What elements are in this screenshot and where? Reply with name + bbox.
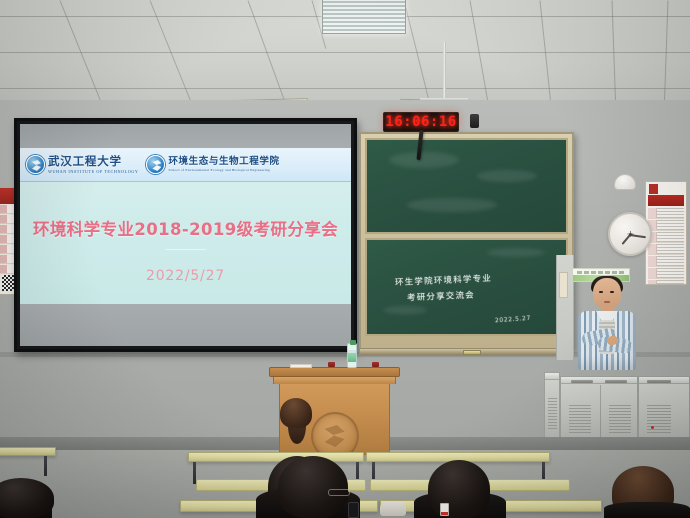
chalk-tray bbox=[359, 348, 574, 356]
screen-letterbox-top bbox=[20, 124, 351, 148]
digital-clock-time: 16:06:16 bbox=[385, 114, 456, 130]
poster-title-bar bbox=[648, 195, 684, 206]
school-name-en: School of Environmental Ecology and Biol… bbox=[168, 168, 279, 172]
university-name-cn: 武汉工程大学 bbox=[48, 155, 138, 167]
poster-logo-icon bbox=[649, 184, 683, 194]
poster-row bbox=[648, 256, 684, 267]
lectern-top bbox=[269, 367, 400, 377]
slide-title: 环境科学专业2018-2019级考研分享会 bbox=[20, 216, 351, 240]
desk-row-back-left bbox=[0, 447, 56, 456]
poster-row bbox=[648, 232, 684, 243]
analog-wall-clock bbox=[608, 212, 652, 256]
marker-icon bbox=[372, 362, 379, 367]
presentation-slide: 武汉工程大学 WUHAN INSTITUTE OF TECHNOLOGY 环境生… bbox=[20, 148, 351, 304]
student-head bbox=[428, 460, 490, 518]
student-head-standing bbox=[280, 398, 312, 428]
school-logo: 环境生态与生物工程学院 School of Environmental Ecol… bbox=[146, 155, 279, 174]
screen-letterbox-bottom bbox=[20, 304, 351, 346]
blackboard-panel-upper bbox=[365, 138, 568, 234]
storage-cabinet-center[interactable] bbox=[560, 376, 638, 438]
fluorescent-panel-icon bbox=[322, 0, 406, 34]
water-bottle-icon bbox=[347, 343, 357, 368]
clock-minute-hand bbox=[630, 234, 646, 238]
glasses-icon bbox=[328, 489, 350, 496]
poster-row bbox=[648, 268, 684, 279]
university-logo: 武汉工程大学 WUHAN INSTITUTE OF TECHNOLOGY bbox=[26, 155, 138, 174]
storage-cabinet-right[interactable] bbox=[638, 376, 690, 438]
cup-icon bbox=[440, 503, 449, 516]
door-notice-strip bbox=[559, 272, 568, 298]
marker-icon bbox=[328, 362, 335, 367]
desk-row-back-center bbox=[188, 452, 364, 462]
poster-row bbox=[648, 220, 684, 231]
poster-row bbox=[648, 208, 684, 219]
eraser-icon bbox=[463, 350, 481, 355]
presenter-head bbox=[593, 278, 621, 309]
digital-wall-clock: 16:06:16 bbox=[383, 112, 459, 132]
chalk-signature: 2022.5.27 bbox=[495, 315, 531, 324]
student-head bbox=[278, 456, 348, 518]
blackboard: 环生学院环境科学专业 考研分享交流会 2022.5.27 bbox=[359, 132, 574, 350]
slide-date: 2022/5/27 bbox=[20, 268, 351, 284]
poster-row bbox=[648, 244, 684, 255]
blackboard-panel-lower: 环生学院环境科学专业 考研分享交流会 2022.5.27 bbox=[365, 238, 568, 336]
chalk-text-line1: 环生学院环境科学专业 bbox=[395, 272, 492, 288]
suspended-tile-ceiling bbox=[0, 0, 690, 108]
student-shoulders bbox=[604, 502, 690, 518]
university-crest-icon bbox=[26, 155, 45, 174]
papers-icon bbox=[290, 364, 312, 368]
sensor-box-icon bbox=[470, 114, 479, 128]
projection-screen: 武汉工程大学 WUHAN INSTITUTE OF TECHNOLOGY 环境生… bbox=[14, 118, 357, 352]
storage-cabinet-left[interactable] bbox=[544, 372, 560, 438]
bag-icon bbox=[380, 502, 406, 516]
student-head bbox=[0, 478, 54, 518]
presenter bbox=[576, 278, 638, 370]
school-crest-icon bbox=[146, 155, 165, 174]
chalk-text-line2: 考研分享交流会 bbox=[407, 289, 475, 304]
classroom-scene: 16:06:16 武汉工程大学 WUHAN INSTITUTE OF TECHN… bbox=[0, 0, 690, 518]
phone-icon bbox=[348, 502, 359, 518]
slide-divider bbox=[166, 249, 206, 250]
slide-header-banner: 武汉工程大学 WUHAN INSTITUTE OF TECHNOLOGY 环境生… bbox=[20, 148, 351, 182]
school-name-cn: 环境生态与生物工程学院 bbox=[168, 157, 279, 167]
ceiling-speaker-icon bbox=[614, 174, 636, 190]
poster-row bbox=[648, 280, 684, 285]
university-name-en: WUHAN INSTITUTE OF TECHNOLOGY bbox=[48, 169, 138, 174]
